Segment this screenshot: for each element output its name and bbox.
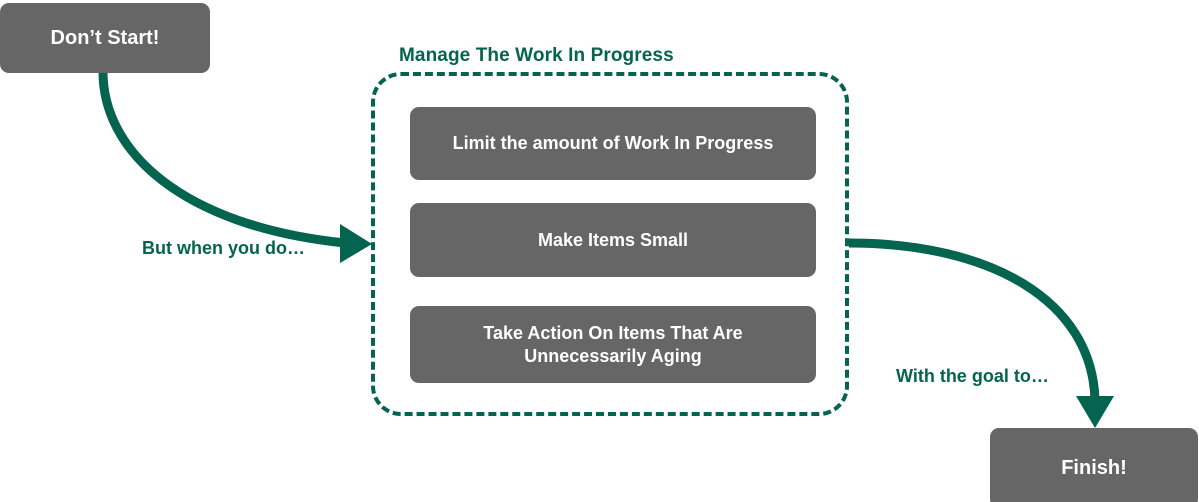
finish-node[interactable]: Finish! (990, 428, 1198, 502)
practice-box-label: Limit the amount of Work In Progress (453, 132, 774, 155)
start-node-label: Don’t Start! (51, 26, 160, 51)
finish-node-label: Finish! (1061, 456, 1127, 481)
start-node[interactable]: Don’t Start! (0, 3, 210, 73)
wip-group-title: Manage The Work In Progress (399, 45, 674, 67)
practice-box-take-action-aging[interactable]: Take Action On Items That Are Unnecessar… (410, 306, 816, 383)
diagram-canvas: Don’t Start! Manage The Work In Progress… (0, 0, 1199, 502)
practice-box-label: Make Items Small (538, 229, 688, 252)
practice-box-limit-wip[interactable]: Limit the amount of Work In Progress (410, 107, 816, 180)
arrow-wip-to-finish (849, 243, 1114, 428)
practice-box-make-items-small[interactable]: Make Items Small (410, 203, 816, 277)
practice-box-label: Take Action On Items That Are Unnecessar… (438, 322, 788, 367)
arrow-label-but-when-you-do: But when you do… (142, 238, 305, 259)
arrow-start-to-wip (103, 72, 372, 263)
arrow-label-with-the-goal-to: With the goal to… (896, 366, 1049, 387)
